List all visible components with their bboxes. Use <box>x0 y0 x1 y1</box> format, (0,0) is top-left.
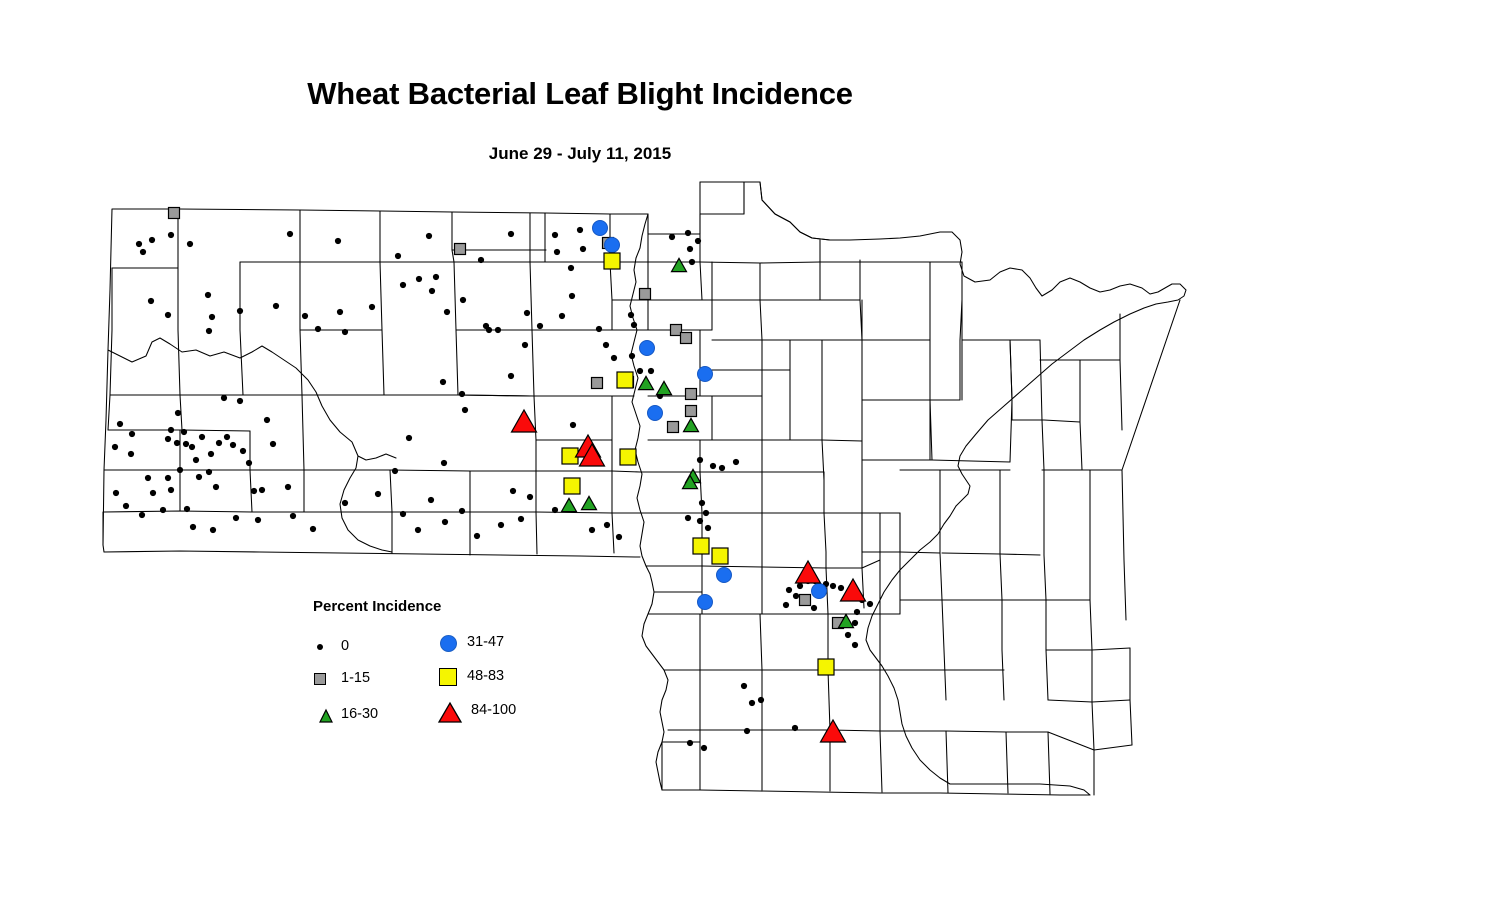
incidence-point-low <box>169 208 180 219</box>
incidence-point-zero <box>165 312 171 318</box>
legend-title: Percent Incidence <box>313 598 441 615</box>
incidence-point-zero <box>478 257 484 263</box>
incidence-point-low <box>671 325 682 336</box>
incidence-point-zero <box>168 427 174 433</box>
incidence-point-zero <box>259 487 265 493</box>
incidence-point-zero <box>196 474 202 480</box>
incidence-point-zero <box>444 309 450 315</box>
incidence-point-zero <box>527 494 533 500</box>
incidence-point-zero <box>213 484 219 490</box>
incidence-point-zero <box>867 601 873 607</box>
incidence-point-zero <box>852 620 858 626</box>
incidence-point-zero <box>369 304 375 310</box>
incidence-point-zero <box>569 293 575 299</box>
incidence-point-zero <box>570 422 576 428</box>
county-boundaries <box>103 182 1186 795</box>
incidence-point-zero <box>189 444 195 450</box>
incidence-point-zero <box>797 583 803 589</box>
incidence-point-zero <box>495 327 501 333</box>
incidence-point-zero <box>669 234 675 240</box>
incidence-point-high <box>605 238 620 253</box>
incidence-point-zero <box>400 511 406 517</box>
incidence-point-zero <box>184 506 190 512</box>
incidence-point-max <box>796 561 821 583</box>
legend-label-48-83: 48-83 <box>467 668 504 684</box>
incidence-point-zero <box>335 238 341 244</box>
incidence-point-zero <box>486 327 492 333</box>
legend-label-1-15: 1-15 <box>341 670 370 686</box>
gray-square-icon <box>311 666 337 692</box>
incidence-point-zero <box>568 265 574 271</box>
incidence-point-zero <box>596 326 602 332</box>
incidence-point-zero <box>689 259 695 265</box>
incidence-point-zero <box>187 241 193 247</box>
legend-label-16-30: 16-30 <box>341 706 378 722</box>
incidence-point-zero <box>160 507 166 513</box>
incidence-point-zero <box>251 488 257 494</box>
incidence-point-zero <box>255 517 261 523</box>
incidence-point-zero <box>406 435 412 441</box>
incidence-point-zero <box>510 488 516 494</box>
incidence-point-zero <box>165 436 171 442</box>
incidence-point-zero <box>205 292 211 298</box>
incidence-point-zero <box>221 395 227 401</box>
incidence-point-zero <box>149 237 155 243</box>
incidence-point-zero <box>719 465 725 471</box>
incidence-point-zero <box>193 457 199 463</box>
incidence-point-zero <box>210 527 216 533</box>
incidence-point-zero <box>749 700 755 706</box>
incidence-point-zero <box>459 391 465 397</box>
incidence-point-zero <box>524 310 530 316</box>
incidence-point-zero <box>181 429 187 435</box>
green-triangle-icon <box>311 702 337 728</box>
map-legend: Percent Incidence 0 1-15 16-30 <box>311 598 541 730</box>
incidence-point-zero <box>441 460 447 466</box>
incidence-point-zero <box>604 522 610 528</box>
incidence-point-zero <box>460 297 466 303</box>
incidence-point-zero <box>733 459 739 465</box>
incidence-point-zero <box>285 484 291 490</box>
incidence-point-zero <box>792 725 798 731</box>
incidence-point-zero <box>230 442 236 448</box>
incidence-point-zero <box>392 468 398 474</box>
incidence-point-zero <box>129 431 135 437</box>
legend-label-0: 0 <box>341 638 349 654</box>
incidence-point-zero <box>206 328 212 334</box>
incidence-point-zero <box>287 231 293 237</box>
incidence-point-zero <box>145 475 151 481</box>
incidence-point-zero <box>616 534 622 540</box>
incidence-point-high <box>593 221 608 236</box>
incidence-point-high <box>812 584 827 599</box>
incidence-point-vhigh <box>564 478 580 494</box>
incidence-point-zero <box>685 230 691 236</box>
incidence-point-zero <box>237 308 243 314</box>
incidence-point-zero <box>273 303 279 309</box>
incidence-point-zero <box>216 440 222 446</box>
incidence-point-zero <box>433 274 439 280</box>
incidence-point-zero <box>112 444 118 450</box>
incidence-point-zero <box>830 583 836 589</box>
incidence-point-zero <box>703 510 709 516</box>
incidence-point-high <box>698 367 713 382</box>
incidence-point-vhigh <box>617 372 633 388</box>
incidence-point-zero <box>701 745 707 751</box>
incidence-point-zero <box>113 490 119 496</box>
incidence-point-zero <box>629 353 635 359</box>
incidence-point-zero <box>697 457 703 463</box>
incidence-point-zero <box>342 500 348 506</box>
incidence-point-max <box>841 579 866 601</box>
incidence-point-zero <box>375 491 381 497</box>
incidence-point-zero <box>648 368 654 374</box>
incidence-point-zero <box>631 322 637 328</box>
incidence-point-zero <box>199 434 205 440</box>
incidence-point-zero <box>474 533 480 539</box>
incidence-point-zero <box>611 355 617 361</box>
incidence-point-zero <box>206 469 212 475</box>
incidence-point-zero <box>845 632 851 638</box>
incidence-point-zero <box>589 527 595 533</box>
incidence-point-zero <box>603 342 609 348</box>
incidence-point-zero <box>637 368 643 374</box>
incidence-point-zero <box>174 440 180 446</box>
incidence-point-zero <box>559 313 565 319</box>
incidence-point-zero <box>744 728 750 734</box>
incidence-point-mid <box>657 381 672 394</box>
incidence-point-zero <box>758 697 764 703</box>
incidence-point-zero <box>786 587 792 593</box>
incidence-point-low <box>681 333 692 344</box>
incidence-point-zero <box>177 467 183 473</box>
incidence-point-zero <box>208 451 214 457</box>
incidence-point-low <box>800 595 811 606</box>
incidence-point-zero <box>462 407 468 413</box>
incidence-point-zero <box>710 463 716 469</box>
incidence-point-zero <box>518 516 524 522</box>
incidence-point-zero <box>240 448 246 454</box>
incidence-point-zero <box>522 342 528 348</box>
map-svg <box>0 0 1503 900</box>
incidence-point-zero <box>128 451 134 457</box>
incidence-point-vhigh <box>693 538 709 554</box>
incidence-point-zero <box>224 434 230 440</box>
incidence-point-zero <box>246 460 252 466</box>
incidence-point-mid <box>562 498 577 511</box>
incidence-point-zero <box>315 326 321 332</box>
incidence-point-max <box>512 410 537 432</box>
incidence-point-zero <box>442 519 448 525</box>
incidence-point-high <box>640 341 655 356</box>
incidence-point-mid <box>582 496 597 509</box>
incidence-point-zero <box>139 512 145 518</box>
incidence-point-low <box>455 244 466 255</box>
blue-circle-icon <box>437 630 463 656</box>
incidence-point-zero <box>123 503 129 509</box>
incidence-point-zero <box>117 421 123 427</box>
incidence-point-zero <box>811 605 817 611</box>
incidence-point-zero <box>687 740 693 746</box>
incidence-point-zero <box>302 313 308 319</box>
incidence-point-zero <box>699 500 705 506</box>
incidence-point-zero <box>577 227 583 233</box>
incidence-point-zero <box>337 309 343 315</box>
incidence-point-zero <box>741 683 747 689</box>
incidence-point-vhigh <box>620 449 636 465</box>
incidence-point-zero <box>429 288 435 294</box>
incidence-point-zero <box>415 527 421 533</box>
incidence-point-low <box>668 422 679 433</box>
incidence-point-zero <box>705 525 711 531</box>
map-canvas <box>0 0 1503 900</box>
incidence-point-mid <box>672 258 687 271</box>
incidence-point-zero <box>395 253 401 259</box>
incidence-point-zero <box>270 441 276 447</box>
incidence-point-zero <box>426 233 432 239</box>
incidence-point-zero <box>209 314 215 320</box>
incidence-point-zero <box>580 246 586 252</box>
incidence-point-zero <box>233 515 239 521</box>
incidence-point-zero <box>537 323 543 329</box>
incidence-point-zero <box>183 441 189 447</box>
incidence-point-zero <box>687 246 693 252</box>
map-page: Wheat Bacterial Leaf Blight Incidence Ju… <box>0 0 1503 900</box>
incidence-point-zero <box>554 249 560 255</box>
incidence-point-zero <box>552 507 558 513</box>
incidence-point-max <box>821 720 846 742</box>
incidence-point-vhigh <box>818 659 834 675</box>
incidence-point-zero <box>685 515 691 521</box>
incidence-point-zero <box>416 276 422 282</box>
incidence-point-low <box>592 378 603 389</box>
incidence-point-zero <box>854 609 860 615</box>
incidence-point-zero <box>852 642 858 648</box>
legend-label-31-47: 31-47 <box>467 634 504 650</box>
incidence-point-zero <box>695 238 701 244</box>
incidence-point-zero <box>628 312 634 318</box>
incidence-point-vhigh <box>604 253 620 269</box>
yellow-square-icon <box>437 664 463 690</box>
incidence-point-zero <box>508 231 514 237</box>
incidence-point-zero <box>168 232 174 238</box>
small-dot-icon <box>311 634 337 660</box>
incidence-point-zero <box>783 602 789 608</box>
incidence-point-zero <box>165 475 171 481</box>
incidence-point-zero <box>175 410 181 416</box>
incidence-point-mid <box>684 418 699 431</box>
incidence-point-zero <box>552 232 558 238</box>
incidence-point-zero <box>290 513 296 519</box>
incidence-point-zero <box>697 518 703 524</box>
incidence-point-zero <box>148 298 154 304</box>
incidence-point-low <box>686 406 697 417</box>
incidence-point-zero <box>459 508 465 514</box>
incidence-point-zero <box>264 417 270 423</box>
incidence-point-zero <box>440 379 446 385</box>
incidence-point-zero <box>498 522 504 528</box>
incidence-point-mid <box>639 376 654 389</box>
incidence-point-high <box>648 406 663 421</box>
incidence-point-zero <box>428 497 434 503</box>
incidence-point-zero <box>400 282 406 288</box>
incidence-point-high <box>717 568 732 583</box>
incidence-point-high <box>698 595 713 610</box>
incidence-point-zero <box>310 526 316 532</box>
incidence-point-zero <box>508 373 514 379</box>
legend-label-84-100: 84-100 <box>471 702 516 718</box>
incidence-point-zero <box>140 249 146 255</box>
incidence-point-zero <box>237 398 243 404</box>
red-triangle-icon <box>437 698 463 724</box>
incidence-point-zero <box>168 487 174 493</box>
incidence-point-zero <box>793 593 799 599</box>
incidence-point-zero <box>342 329 348 335</box>
incidence-point-zero <box>838 585 844 591</box>
incidence-point-zero <box>150 490 156 496</box>
incidence-point-vhigh <box>712 548 728 564</box>
incidence-point-low <box>640 289 651 300</box>
incidence-point-zero <box>136 241 142 247</box>
incidence-point-low <box>686 389 697 400</box>
incidence-point-zero <box>190 524 196 530</box>
